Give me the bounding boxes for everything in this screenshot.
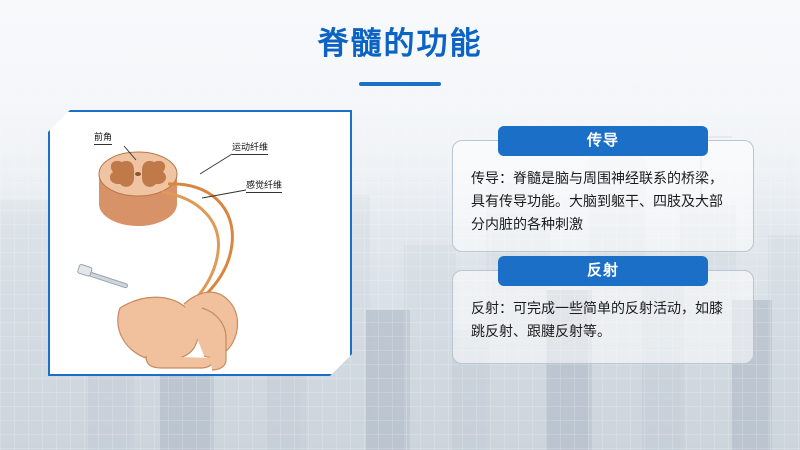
title-underline-rule [359,82,441,86]
figure-panel: 前角 运动纤维 感觉纤维 [48,110,352,376]
label-motor-fiber: 运动纤维 [232,140,268,155]
slide-canvas: 脊髓的功能 [0,0,800,450]
label-sensory-fiber: 感觉纤维 [246,178,282,193]
content-card-reflex: 反射 反射：可完成一些简单的反射活动，如膝跳反射、跟腱反射等。 [452,270,754,364]
spinal-cord-reflex-svg [50,112,350,374]
card-body-conduction: 传导：脊髓是脑与周围神经联系的桥梁，具有传导功能。大脑到躯干、四肢及大部分内脏的… [453,141,753,250]
card-heading-reflex: 反射 [498,256,708,286]
page-title: 脊髓的功能 [0,18,800,63]
card-heading-conduction: 传导 [498,126,708,156]
label-anterior-horn: 前角 [94,130,112,145]
content-card-conduction: 传导 传导：脊髓是脑与周围神经联系的桥梁，具有传导功能。大脑到躯干、四肢及大部分… [452,140,754,252]
spinal-cord-illustration: 前角 运动纤维 感觉纤维 [50,112,350,374]
